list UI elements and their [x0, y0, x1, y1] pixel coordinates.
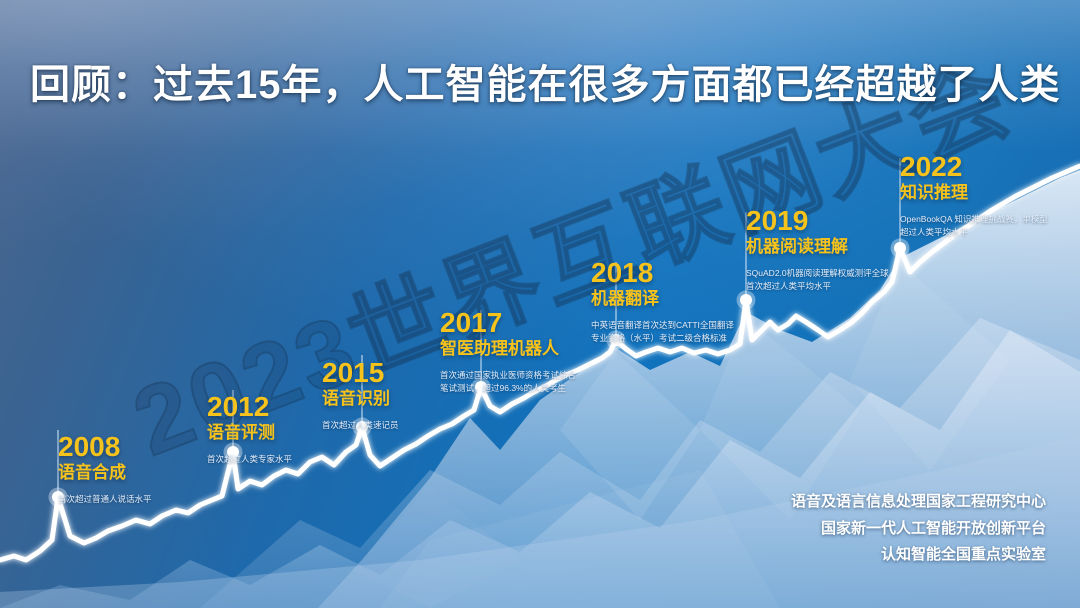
milestone-2019: 2019 机器阅读理解 SQuAD2.0机器阅读理解权威测评全球首次超过人类平均…	[746, 206, 896, 293]
footer-line-3: 认知智能全国重点实验室	[791, 542, 1046, 568]
milestone-desc: 中英语音翻译首次达到CATTI全国翻译专业资格（水平）考试二级合格标准	[591, 319, 741, 345]
footer-line-1: 语音及语言信息处理国家工程研究中心	[791, 489, 1046, 515]
slide-canvas: 2023世界互联网大会 回顾：过去15年，人工智能在很多方面都已经超越了人类 2…	[0, 0, 1080, 608]
milestone-name: 语音合成	[58, 462, 218, 483]
milestone-desc: SQuAD2.0机器阅读理解权威测评全球首次超过人类平均水平	[746, 267, 896, 293]
milestone-year: 2017	[440, 308, 580, 337]
milestone-desc: OpenBookQA 知识推理挑战赛，单模型超过人类平均水平	[900, 213, 1050, 239]
milestone-year: 2018	[591, 258, 741, 287]
organization-footer: 语音及语言信息处理国家工程研究中心 国家新一代人工智能开放创新平台 认知智能全国…	[791, 489, 1046, 568]
milestone-dot-2019[interactable]	[740, 294, 752, 306]
milestone-year: 2008	[58, 432, 218, 461]
milestone-2018: 2018 机器翻译 中英语音翻译首次达到CATTI全国翻译专业资格（水平）考试二…	[591, 258, 741, 345]
milestone-name: 知识推理	[900, 182, 1050, 203]
milestone-year: 2019	[746, 206, 896, 235]
milestone-desc: 首次超过人类速记员	[322, 419, 472, 432]
milestone-desc: 首次超过普通人说话水平	[58, 493, 218, 506]
milestone-year: 2022	[900, 152, 1050, 181]
milestone-desc: 首次通过国家执业医师资格考试综合笔试测试，超过96.3%的人类考生	[440, 369, 580, 395]
milestone-name: 机器阅读理解	[746, 236, 896, 257]
page-title: 回顾：过去15年，人工智能在很多方面都已经超越了人类	[30, 52, 1061, 110]
milestone-desc: 首次超过人类专家水平	[207, 453, 367, 466]
milestone-name: 机器翻译	[591, 288, 741, 309]
milestone-name: 智医助理机器人	[440, 338, 580, 359]
milestone-2008: 2008 语音合成 首次超过普通人说话水平	[58, 432, 218, 506]
milestone-2017: 2017 智医助理机器人 首次通过国家执业医师资格考试综合笔试测试，超过96.3…	[440, 308, 580, 395]
milestone-2022: 2022 知识推理 OpenBookQA 知识推理挑战赛，单模型超过人类平均水平	[900, 152, 1050, 239]
footer-line-2: 国家新一代人工智能开放创新平台	[791, 516, 1046, 542]
